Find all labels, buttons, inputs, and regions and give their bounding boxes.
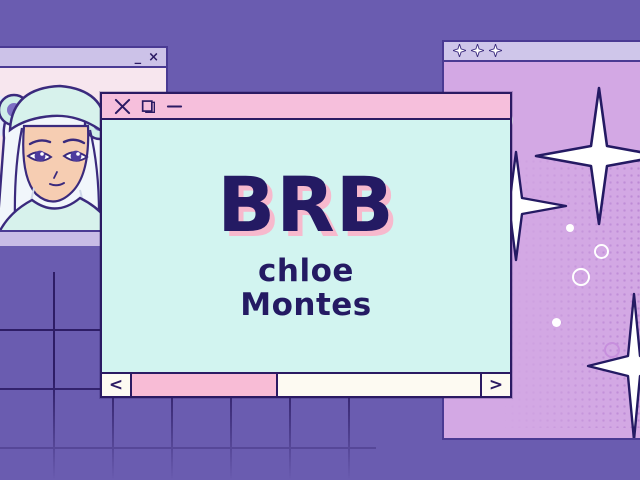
minimize-icon[interactable] [166,98,183,115]
sparkle-diamond-icon [489,42,502,61]
brb-window-content: BRB chloe Montes [102,120,510,372]
brb-window[interactable]: BRB chloe Montes < > [100,92,512,398]
close-icon[interactable] [114,98,131,115]
horizontal-scrollbar[interactable]: < > [102,372,510,396]
scroll-right-button[interactable]: > [480,374,510,396]
bubble-decoration [594,244,609,259]
page-title: BRB [217,169,394,242]
minimize-icon[interactable]: _ [135,51,142,64]
streamer-first-name: chloe [258,253,354,289]
brb-window-titlebar[interactable] [102,94,510,120]
sparkle-star-bottom-icon [586,292,640,438]
sparkle-diamond-icon [453,42,466,61]
streamer-last-name: Montes [240,287,372,323]
maximize-icon[interactable] [141,99,156,114]
scrollbar-track[interactable] [132,374,480,396]
bubble-decoration [604,342,620,358]
streamer-name: chloe Montes [240,254,372,323]
sparkle-diamond-icon [471,42,484,61]
scroll-left-button[interactable]: < [102,374,132,396]
bubble-decoration [552,318,561,327]
avatar-window-titlebar[interactable]: _ × [0,48,166,68]
close-icon[interactable]: × [148,51,159,64]
bubble-decoration [566,224,574,232]
screen: _ × [0,0,640,480]
scrollbar-thumb[interactable] [132,374,278,396]
lavender-window-titlebar[interactable] [444,42,640,62]
bubble-decoration [572,268,590,286]
